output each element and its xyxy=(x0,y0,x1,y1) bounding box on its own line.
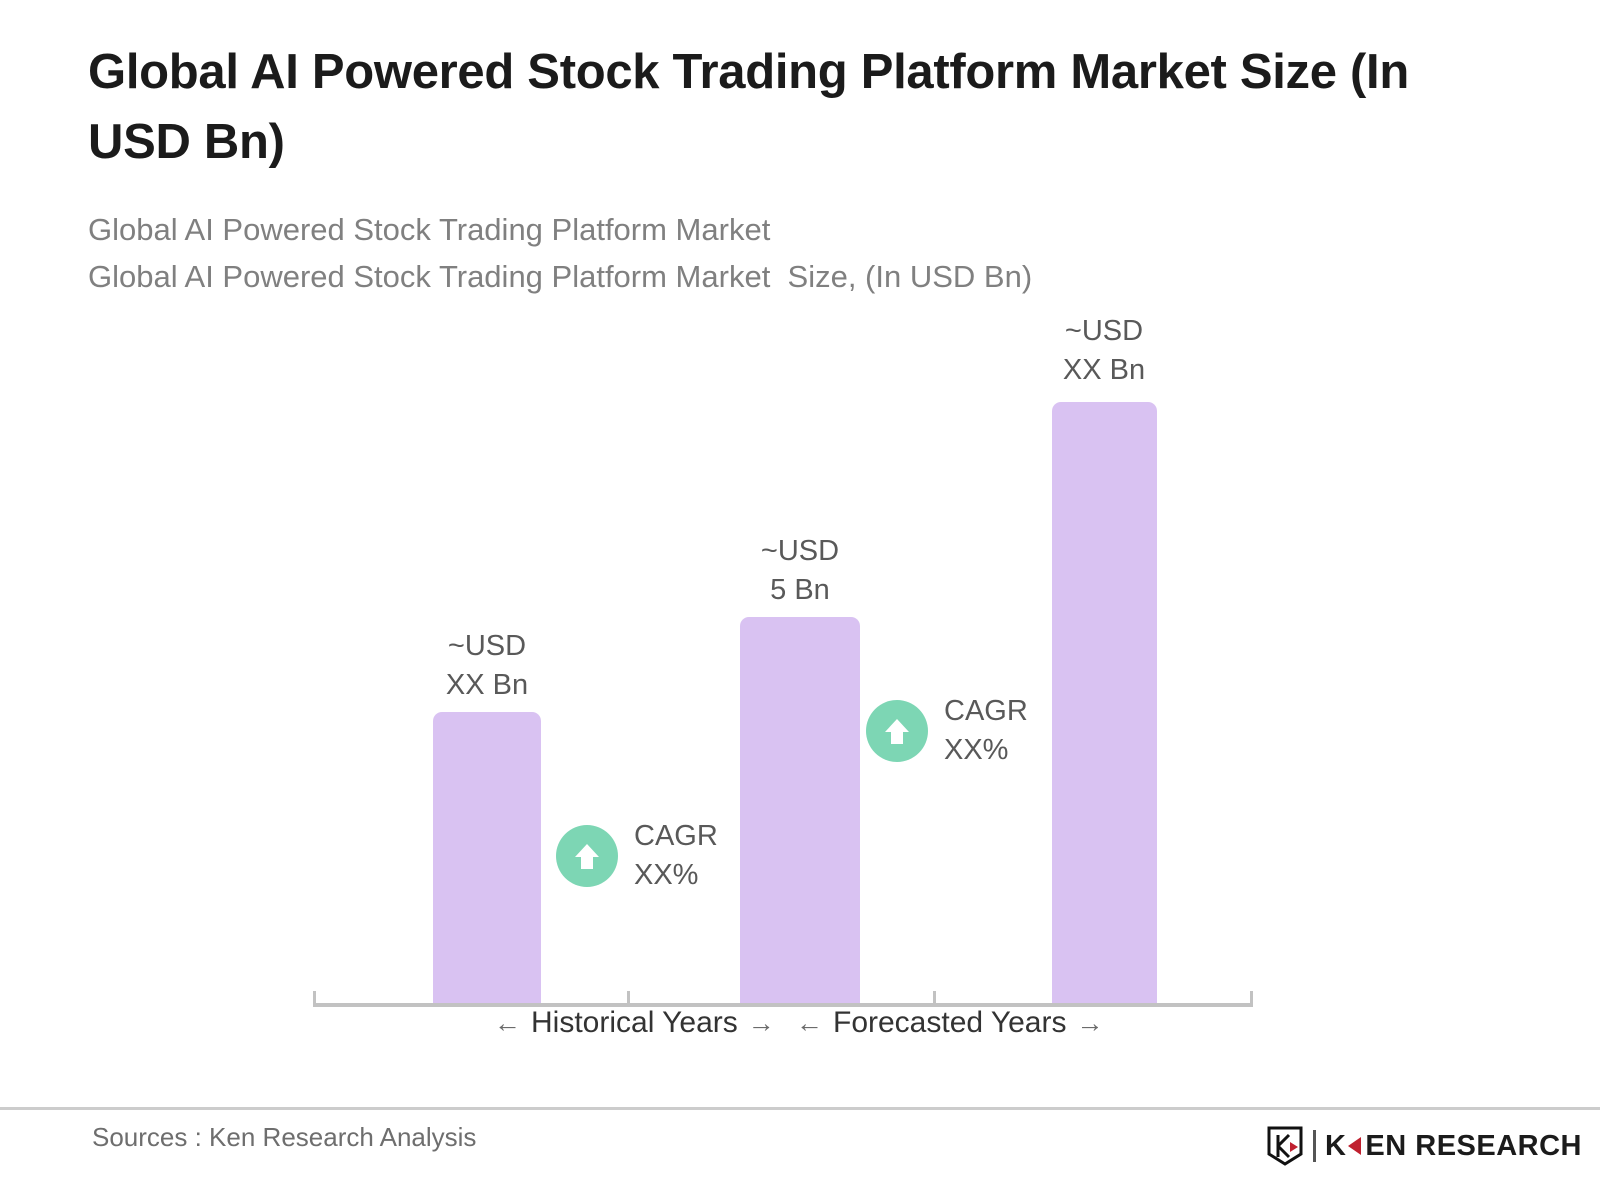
logo-wordmark-rest: EN RESEARCH xyxy=(1365,1130,1582,1163)
logo-divider xyxy=(1313,1130,1316,1162)
arrow-up-icon xyxy=(556,825,618,887)
cagr-label-historical: CAGR XX% xyxy=(634,817,718,896)
logo-wordmark: K EN RESEARCH xyxy=(1325,1130,1582,1163)
logo-wordmark-k: K xyxy=(1325,1130,1346,1163)
bar-base-year[interactable] xyxy=(740,617,860,1005)
axis-section-label-historical: Historical Years xyxy=(531,1006,738,1040)
bar-historical-year[interactable] xyxy=(433,712,541,1005)
bar-label-base-year: ~USD 5 Bn xyxy=(708,532,892,611)
arrow-up-icon xyxy=(866,700,928,762)
cagr-label-forecasted: CAGR XX% xyxy=(944,692,1028,771)
arrow-left-icon: ← xyxy=(494,1010,521,1037)
axis-section-historical-years: ← Historical Years → xyxy=(494,1006,775,1040)
logo-triangle-icon xyxy=(1348,1137,1361,1155)
axis-section-label-forecasted: Forecasted Years xyxy=(833,1006,1066,1040)
axis-section-forecasted-years: ← Forecasted Years → xyxy=(796,1006,1103,1040)
cagr-annotation-forecasted: CAGR XX% xyxy=(866,692,1028,771)
bar-chart: ~USD XX Bn ~USD 5 Bn ~USD XX Bn CAGR XX%… xyxy=(0,0,1600,1090)
sources-text: Sources : Ken Research Analysis xyxy=(92,1122,476,1153)
x-axis-end-tick-left xyxy=(313,991,316,1007)
footer-divider xyxy=(0,1107,1600,1110)
cagr-annotation-historical: CAGR XX% xyxy=(556,817,718,896)
ken-research-logo: K EN RESEARCH xyxy=(1266,1126,1582,1166)
bar-forecasted-year[interactable] xyxy=(1052,402,1157,1005)
bar-label-forecasted-year: ~USD XX Bn xyxy=(1012,312,1196,391)
x-axis-tick-2 xyxy=(933,991,936,1007)
arrow-right-icon: → xyxy=(748,1010,775,1037)
x-axis-end-tick-right xyxy=(1250,991,1253,1007)
logo-k-mark-icon xyxy=(1266,1126,1304,1166)
x-axis-line xyxy=(313,1003,1253,1007)
bar-label-historical-year: ~USD XX Bn xyxy=(395,627,579,706)
slide-canvas: Global AI Powered Stock Trading Platform… xyxy=(0,0,1600,1200)
x-axis-tick-1 xyxy=(627,991,630,1007)
arrow-left-icon: ← xyxy=(796,1010,823,1037)
arrow-right-icon: → xyxy=(1076,1010,1103,1037)
